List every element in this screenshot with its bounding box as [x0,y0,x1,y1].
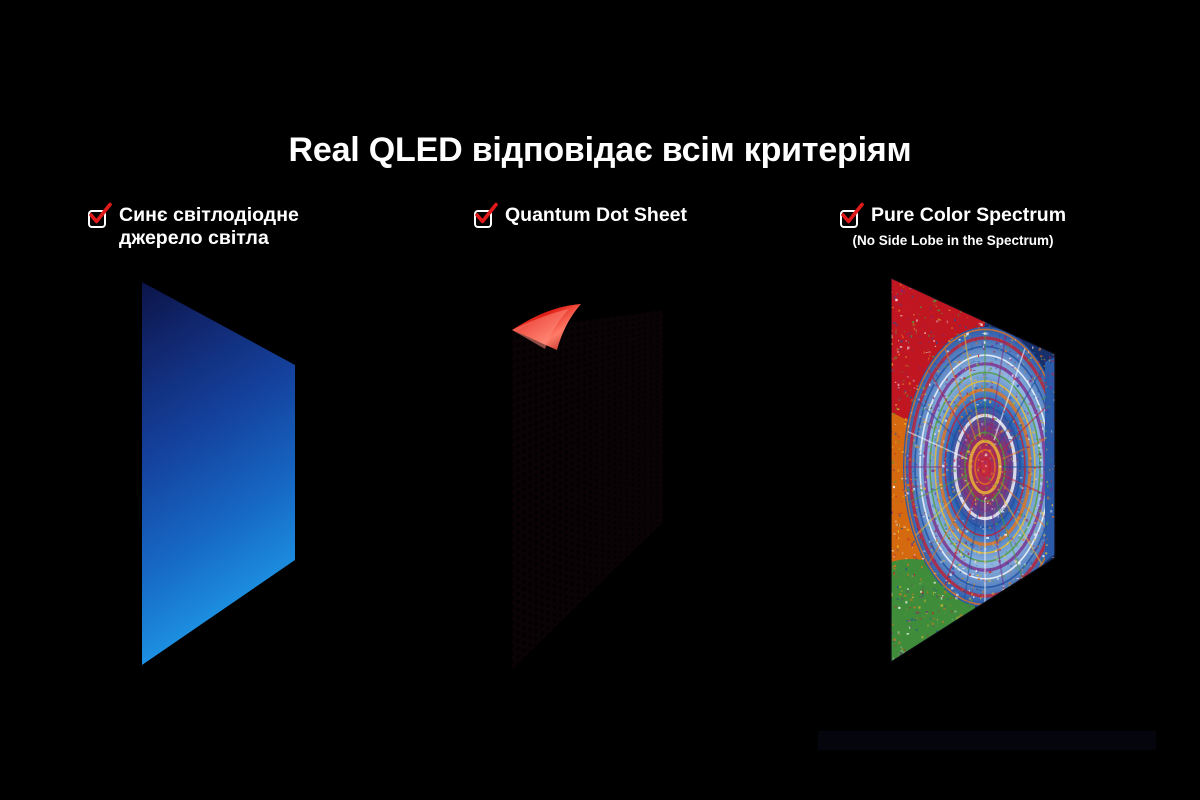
carpet-pattern [875,262,1070,677]
page-title: Real QLED відповідає всім критеріям [0,131,1200,170]
checkbox-checked-icon [88,208,110,230]
blue-panel-shape [142,282,295,665]
quantum-dot-sheet-panel [495,300,685,680]
feature-label-line1: Pure Color Spectrum [871,204,1066,227]
color-spectrum-carpet-panel [875,262,1070,677]
check-mark-icon [473,202,499,228]
feature-header: Pure Color Spectrum [840,204,1066,230]
feature-header: Синє світлодіодне джерело світла [88,204,299,250]
check-mark-icon [87,202,113,228]
feature-header: Quantum Dot Sheet [474,204,687,230]
feature-label-block: Синє світлодіодне джерело світла [119,204,299,250]
feature-label-line1: Quantum Dot Sheet [505,204,687,227]
footer-shade-band [818,731,1156,750]
feature-quantum-dot-sheet: Quantum Dot Sheet [474,204,687,230]
feature-label-line1: Синє світлодіодне [119,204,299,227]
checkbox-checked-icon [840,208,862,230]
feature-pure-color-spectrum: Pure Color Spectrum (No Side Lobe in the… [840,204,1066,249]
feature-label-block: Quantum Dot Sheet [505,204,687,227]
check-mark-icon [839,202,865,228]
feature-label-line2: джерело світла [119,227,299,250]
blue-led-panel [130,270,310,680]
slide-canvas: Real QLED відповідає всім критеріям Синє… [0,0,1200,800]
feature-label-block: Pure Color Spectrum [871,204,1066,227]
feature-subtitle: (No Side Lobe in the Spectrum) [840,233,1066,249]
feature-blue-led-light-source: Синє світлодіодне джерело світла [88,204,299,250]
checkbox-checked-icon [474,208,496,230]
qd-sheet-base [512,310,663,670]
